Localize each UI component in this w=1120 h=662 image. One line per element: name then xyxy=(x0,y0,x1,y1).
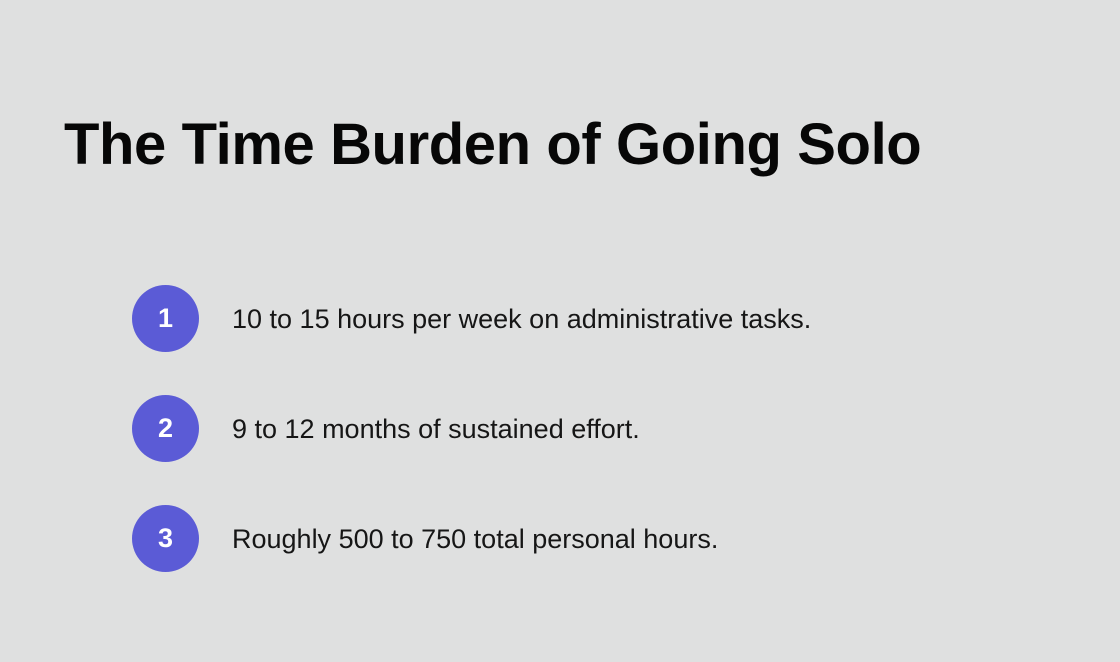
list-item: 2 9 to 12 months of sustained effort. xyxy=(132,395,1072,462)
list-item: 1 10 to 15 hours per week on administrat… xyxy=(132,285,1072,352)
bullet-text: Roughly 500 to 750 total personal hours. xyxy=(232,522,1072,556)
bullet-number-badge: 1 xyxy=(132,285,199,352)
page-title: The Time Burden of Going Solo xyxy=(64,108,921,182)
bullet-text: 9 to 12 months of sustained effort. xyxy=(232,412,1072,446)
numbered-bullet-list: 1 10 to 15 hours per week on administrat… xyxy=(132,285,1072,572)
bullet-number-badge: 3 xyxy=(132,505,199,572)
bullet-text: 10 to 15 hours per week on administrativ… xyxy=(232,302,1072,336)
list-item: 3 Roughly 500 to 750 total personal hour… xyxy=(132,505,1072,572)
slide-canvas: The Time Burden of Going Solo 1 10 to 15… xyxy=(0,0,1120,662)
bullet-number-badge: 2 xyxy=(132,395,199,462)
